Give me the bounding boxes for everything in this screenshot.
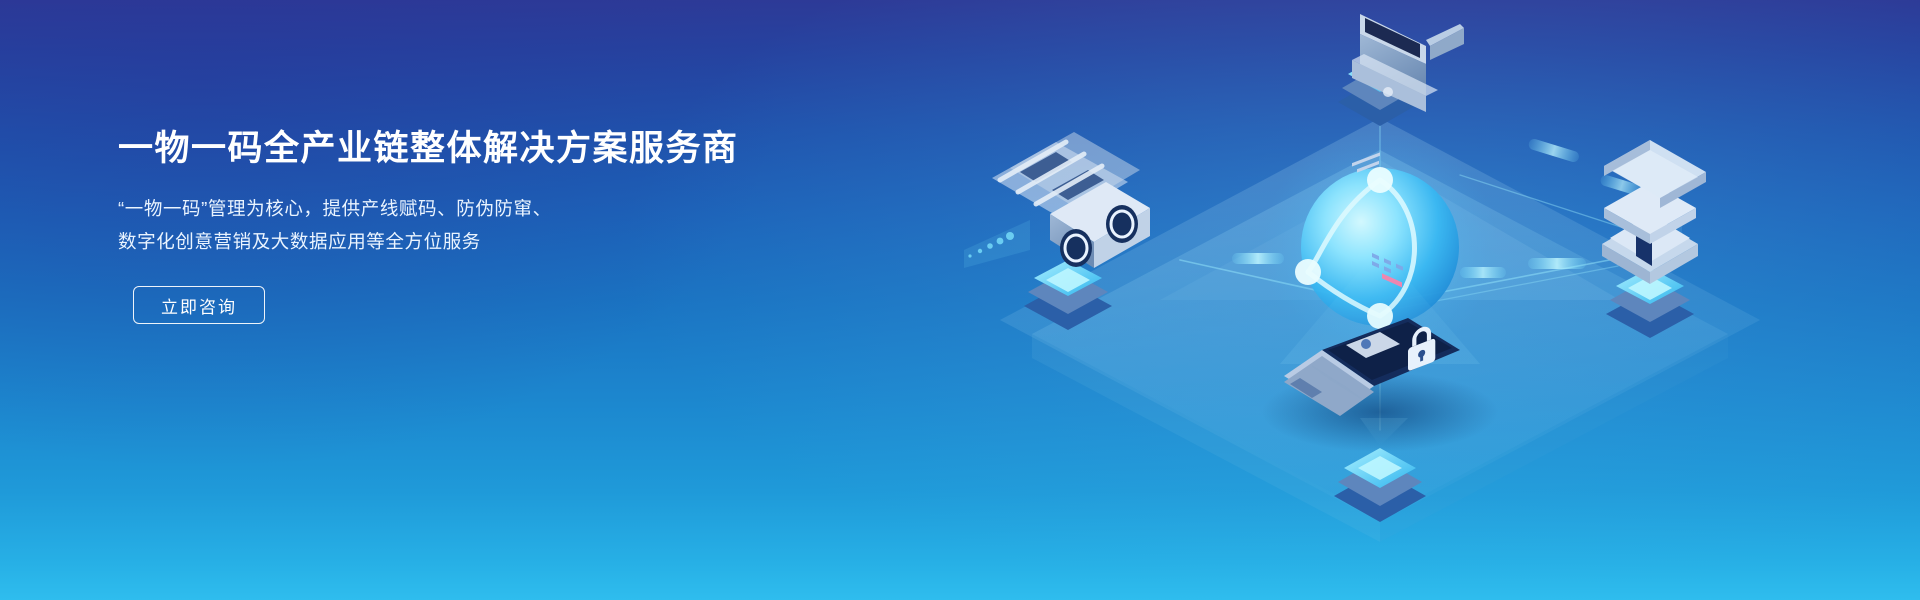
hero-illustration bbox=[860, 0, 1920, 600]
hero-subtitle: “一物一码”管理为核心，提供产线赋码、防伪防窜、 数字化创意营销及大数据应用等全… bbox=[118, 192, 838, 258]
hero-copy-block: 一物一码全产业链整体解决方案服务商 “一物一码”管理为核心，提供产线赋码、防伪防… bbox=[118, 128, 838, 324]
laptop-security-icon bbox=[1284, 152, 1460, 522]
pedestal-bottom bbox=[1334, 448, 1426, 522]
server-rack-icon bbox=[964, 132, 1150, 330]
page-title: 一物一码全产业链整体解决方案服务商 bbox=[118, 128, 838, 170]
pedestal-center-top bbox=[1338, 56, 1422, 126]
data-flow-lines bbox=[1180, 110, 1645, 430]
bank-building-icon bbox=[1602, 140, 1706, 600]
consult-now-button[interactable]: 立即咨询 bbox=[133, 286, 265, 324]
pedestal-right bbox=[1606, 268, 1694, 338]
pedestal-left bbox=[1024, 260, 1112, 330]
subtitle-line-1: “一物一码”管理为核心，提供产线赋码、防伪防窜、 bbox=[118, 192, 838, 225]
pos-terminal-icon bbox=[1352, 14, 1464, 287]
hero-banner: 一物一码全产业链整体解决方案服务商 “一物一码”管理为核心，提供产线赋码、防伪防… bbox=[0, 0, 1920, 600]
platform-plate bbox=[1000, 118, 1760, 542]
subtitle-line-2: 数字化创意营销及大数据应用等全方位服务 bbox=[118, 225, 838, 258]
network-sphere-icon bbox=[1262, 129, 1498, 452]
